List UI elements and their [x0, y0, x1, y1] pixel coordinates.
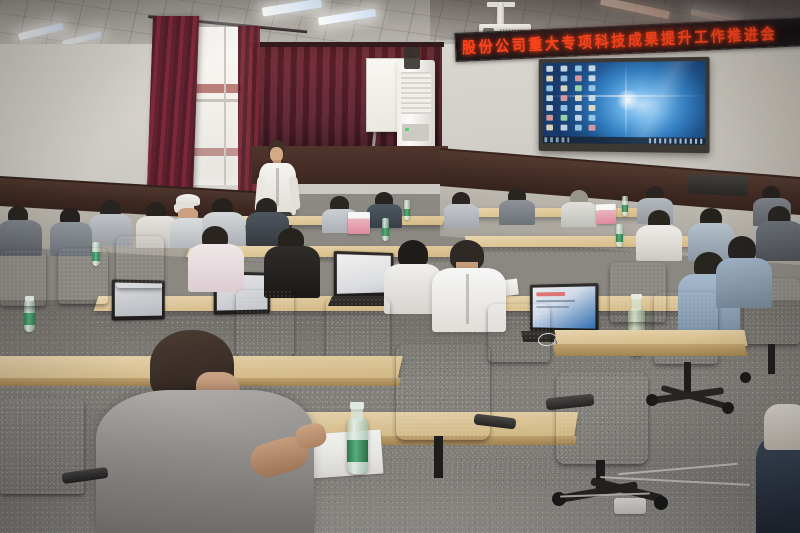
- chair-gas-cylinder: [434, 436, 443, 478]
- taskbar-pinned-icons: [544, 137, 569, 142]
- power-adapter: [614, 498, 646, 514]
- desktop-icon: [560, 105, 567, 111]
- bottle-neck: [351, 408, 363, 421]
- window-reflection-band: [193, 148, 243, 156]
- water-bottle-label: [616, 234, 623, 242]
- desktop-icon: [546, 115, 553, 121]
- attendee-torso: [716, 258, 772, 308]
- desktop-icon: [546, 105, 553, 111]
- desktop-icon: [589, 75, 596, 81]
- desktop-icon: [546, 66, 553, 72]
- wall-shading-left: [0, 44, 170, 194]
- desktop-icon: [589, 95, 596, 101]
- desktop-icon: [575, 115, 582, 121]
- desktop-icon: [560, 115, 567, 121]
- window: [193, 27, 243, 185]
- desktop-icon: [560, 66, 567, 72]
- projection-screen-display: [543, 61, 706, 145]
- wallpaper-light-ray: [590, 61, 706, 145]
- office-chair-back[interactable]: [0, 250, 46, 306]
- attendee-torso: [561, 202, 597, 227]
- laptop-display-content-line: [536, 292, 565, 296]
- attendee-torso: [444, 204, 479, 228]
- desktop-icon: [546, 85, 553, 91]
- desktop-icon-grid: [546, 65, 602, 137]
- attendee-torso: [636, 225, 682, 261]
- chair-caster-wheel: [740, 372, 751, 383]
- desktop-icon: [546, 76, 553, 82]
- desktop-icon: [560, 95, 567, 101]
- desktop-icon: [546, 95, 553, 101]
- desktop-icon: [575, 85, 582, 91]
- name-tent-card: [348, 212, 370, 234]
- projection-screen-frame: [539, 57, 710, 153]
- desktop-icon: [560, 75, 567, 81]
- window-mullion-horizontal: [193, 99, 243, 102]
- desktop-icon: [575, 95, 582, 101]
- chair-caster-wheel: [722, 402, 734, 414]
- office-chair-back[interactable]: [116, 236, 164, 288]
- chair-caster-wheel: [552, 492, 566, 506]
- attendee-partial-bottom-right: [756, 440, 800, 533]
- name-tent-card: [596, 204, 617, 225]
- desktop-icon: [589, 115, 596, 121]
- chair-caster-wheel: [654, 496, 668, 510]
- desktop-icon: [575, 75, 582, 81]
- desktop-icon: [589, 65, 596, 71]
- water-bottle-label: [622, 205, 628, 212]
- shirt-placket: [466, 274, 469, 324]
- attendee-torso: [499, 200, 535, 225]
- office-chair-back[interactable]: [488, 304, 550, 362]
- water-bottle-label: [347, 440, 368, 462]
- laptop-display: [337, 254, 391, 294]
- bottle-cap: [350, 402, 364, 409]
- water-bottle-label: [382, 228, 389, 236]
- chair-gas-cylinder: [768, 344, 775, 374]
- office-chair-back[interactable]: [556, 372, 648, 464]
- desk-right-foreground-edge: [553, 344, 747, 356]
- desktop-icon: [589, 85, 596, 91]
- conference-room-photo: 股份公司重大专项科技成果提升工作推进会: [0, 0, 800, 533]
- wall-speaker: [404, 47, 420, 69]
- ac-control-panel[interactable]: [402, 124, 429, 141]
- desktop-icon: [589, 125, 596, 131]
- office-chair-back[interactable]: [58, 248, 108, 304]
- attendee-torso: [756, 221, 800, 261]
- desktop-icon: [560, 125, 567, 131]
- desktop-icon: [575, 125, 582, 131]
- presenter-shirt-placket: [276, 168, 279, 206]
- desktop-icon: [589, 105, 596, 111]
- rear-equipment-box: [688, 173, 749, 196]
- desktop-icon: [546, 125, 553, 131]
- water-bottle-label: [24, 313, 35, 325]
- desktop-icon: [575, 65, 582, 71]
- window-mullion-vertical: [224, 27, 226, 185]
- desktop-icon: [575, 105, 582, 111]
- desktop-icon: [560, 85, 567, 91]
- laptop-display-content-line: [536, 300, 574, 302]
- ac-power-led-icon: [405, 128, 409, 131]
- office-chair-back[interactable]: [236, 290, 294, 356]
- curtain-left: [147, 16, 199, 192]
- office-chair-back[interactable]: [396, 344, 490, 440]
- window-reflection-band: [193, 84, 243, 93]
- water-bottle-label: [404, 209, 410, 216]
- attendee-torso-pink-shirt: [188, 244, 244, 292]
- ac-vent-grill: [401, 72, 431, 114]
- taskbar-system-tray: [649, 138, 702, 144]
- attendee-partial-shoulder: [764, 404, 800, 450]
